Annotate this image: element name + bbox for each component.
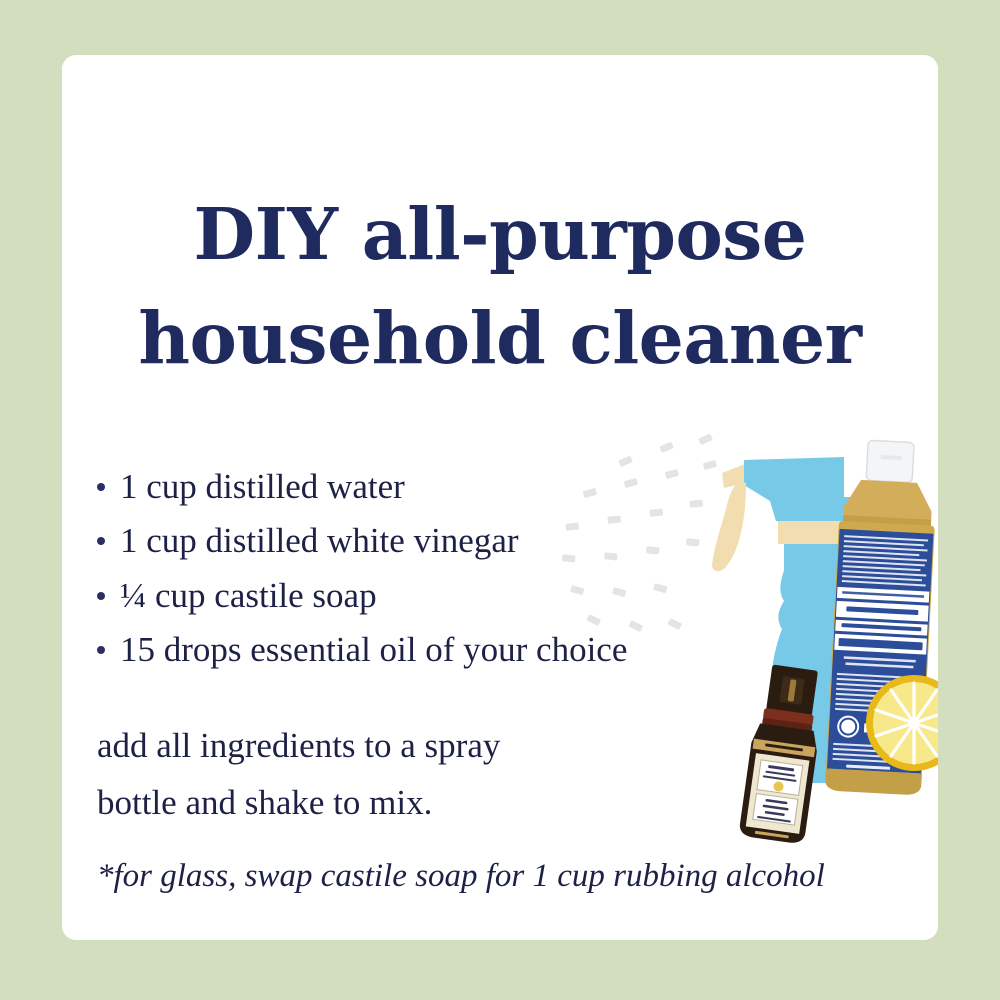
essential-oil-bottle-icon: [738, 663, 828, 844]
spray-mist-icon: [562, 433, 717, 632]
bullet-icon: [97, 483, 105, 491]
title-line-2: household cleaner: [62, 287, 938, 391]
footnote: *for glass, swap castile soap for 1 cup …: [97, 855, 927, 898]
product-illustration: [532, 405, 938, 845]
ingredient-text: 1 cup distilled white vinegar: [120, 521, 519, 560]
bullet-icon: [97, 537, 105, 545]
ingredient-text: ¼ cup castile soap: [120, 576, 377, 615]
poster-canvas: DIY all-purpose household cleaner 1 cup …: [0, 0, 1000, 1000]
page-title: DIY all-purpose household cleaner: [62, 183, 938, 390]
bullet-icon: [97, 592, 105, 600]
bullet-icon: [97, 646, 105, 654]
recipe-card: DIY all-purpose household cleaner 1 cup …: [62, 55, 938, 940]
ingredient-text: 1 cup distilled water: [120, 467, 405, 506]
title-line-1: DIY all-purpose: [62, 183, 938, 287]
